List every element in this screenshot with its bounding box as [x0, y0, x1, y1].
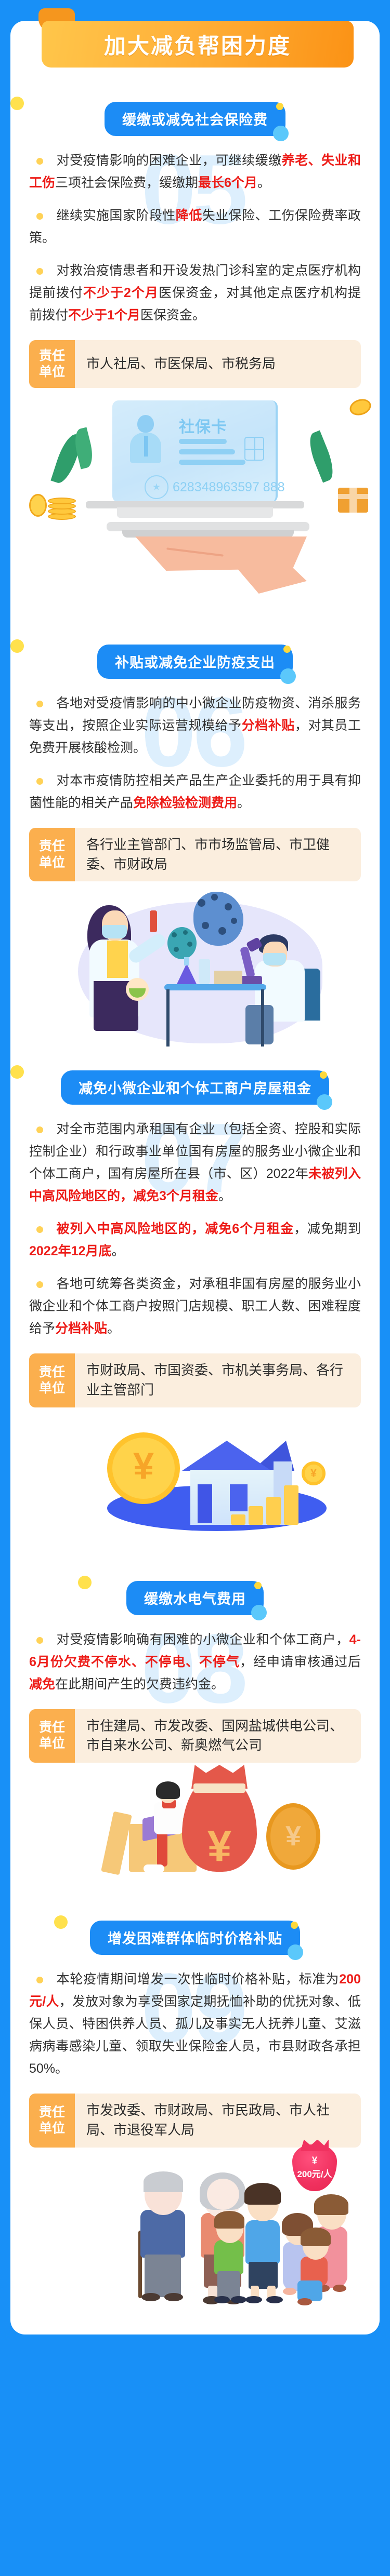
ssc-portrait-icon	[130, 415, 161, 463]
hand-with-tray-illustration	[10, 518, 380, 627]
test-tube-icon	[150, 910, 157, 932]
decor-dot-yellow-small-icon	[254, 1582, 262, 1589]
text-run: 在此期间产生的欠费违约金。	[55, 1677, 224, 1692]
house-door-icon	[198, 1484, 212, 1523]
page-bottom-spacer	[0, 2334, 390, 2352]
yuan-symbol-icon: ¥	[312, 2156, 318, 2166]
decor-dot-cyan-icon	[288, 1944, 303, 1960]
ssc-line-3	[179, 460, 245, 465]
responsible-unit-label-line1: 责任	[39, 348, 65, 364]
coin-stack-icon	[266, 1497, 281, 1525]
money-bag-illustration: ¥	[10, 1763, 380, 1903]
paragraph: 继续实施国家阶段性降低失业保险、工伤保险费率政策。	[29, 205, 361, 249]
content-card: 缓缴或减免社会保险费 05 对受疫情影响的困难企业，可继续缓缴养老、失业和工伤三…	[10, 21, 380, 2334]
person-leg	[157, 1831, 167, 1867]
conical-flask-neck	[184, 957, 189, 965]
face-mask-icon	[102, 925, 127, 938]
paragraph: 各地对受疫情影响的中小微企业防疫物资、消杀服务等支出，按照企业实际运营规模给予分…	[29, 692, 361, 759]
coin-stack-icon	[249, 1506, 263, 1525]
grandfather-trousers	[145, 2255, 181, 2297]
leaf-icon	[304, 431, 339, 483]
decor-dot-yellow-large-icon	[54, 1915, 68, 1929]
highlight-run: 不少于1个月	[68, 308, 140, 323]
section-body: 08 对受疫情影响确有困难的小微企业和个体工商户，4-6月份欠费不停水、不停电、…	[10, 1629, 380, 1696]
section-title-text: 补贴或减免企业防疫支出	[115, 655, 275, 670]
paragraph: 对本市疫情防控相关产品生产企业委托的用于具有抑菌性能的相关产品免除检验检测费用。	[29, 770, 361, 814]
coin-stack-icon	[48, 495, 79, 520]
child-periwinkle-shoe	[283, 2288, 296, 2295]
highlight-run: 2022年12月底	[29, 1244, 111, 1258]
text-run: 。	[111, 1244, 124, 1258]
responsible-unit-box: 责任 单位 市人社局、市医保局、市税务局	[29, 340, 361, 388]
section-title-pill[interactable]: 减免小微企业和个体工商户房屋租金	[61, 1070, 329, 1105]
child-green-shirt	[214, 2240, 243, 2274]
text-run: ，经申请审核通过后	[240, 1655, 361, 1669]
measuring-tube-icon	[199, 959, 210, 985]
text-run: 三项社会保险费，缓缴期	[55, 176, 198, 190]
responsible-unit-text: 各行业主管部门、市市场监管局、市卫健委、市财政局	[75, 828, 361, 881]
responsible-unit-text: 市发改委、市财政局、市民政局、市人社局、市退役军人局	[75, 2094, 361, 2147]
text-run: 对受疫情影响的困难企业，可继续缓缴	[57, 153, 282, 168]
ssc-card-shape: 社保卡 628348963597 888	[112, 400, 278, 502]
house-roof-icon	[182, 1441, 271, 1471]
highlight-run: 免除检验检测费用	[133, 796, 237, 810]
decor-dot-yellow-large-icon	[10, 639, 24, 653]
child-blue-shirt	[245, 2220, 280, 2264]
family-group-illustration: ¥ 200元/人	[10, 2148, 380, 2309]
infographic-page: 加大减负帮困力度 缓缴或减免社会保险费 05 对受疫情影响的困难企业，可继续缓缴…	[0, 0, 390, 2352]
decor-dot-cyan-icon	[273, 126, 289, 141]
ssc-chip-icon	[244, 437, 264, 461]
section-epidemic-expense-subsidy: 补贴或减免企业防疫支出 06 各地对受疫情影响的中小微企业防疫物资、消杀服务等支…	[10, 645, 380, 1053]
section-body: 06 各地对受疫情影响的中小微企业防疫物资、消杀服务等支出，按照企业实际运营规模…	[10, 692, 380, 814]
hand-icon	[135, 536, 307, 594]
face-mask-icon	[263, 953, 286, 965]
ssc-card-title: 社保卡	[179, 414, 227, 437]
section-utility-deferral: 缓缴水电气费用 08 对受疫情影响确有困难的小微企业和个体工商户，4-6月份欠费…	[10, 1581, 380, 1903]
responsible-unit-label: 责任 单位	[29, 2094, 75, 2147]
responsible-unit-label-line2: 单位	[39, 2121, 65, 2137]
responsible-unit-label-line2: 单位	[39, 364, 65, 380]
decor-dot-cyan-icon	[317, 1094, 332, 1110]
yuan-coin-icon	[266, 1803, 320, 1870]
coin-stack-icon	[231, 1514, 245, 1525]
grandfather-shoe	[141, 2293, 160, 2301]
child-pink-shoe	[333, 2285, 346, 2292]
section-heading-row: 缓缴或减免社会保险费	[10, 102, 380, 136]
section-heading-row: 增发困难群体临时价格补贴	[10, 1921, 380, 1955]
section-title-text: 增发困难群体临时价格补贴	[108, 1931, 282, 1947]
virus-icon	[167, 927, 197, 959]
responsible-unit-text: 市人社局、市医保局、市税务局	[75, 340, 361, 388]
responsible-unit-box: 责任 单位 市财政局、市国资委、市机关事务局、各行业主管部门	[29, 1353, 361, 1407]
child-red-shoe	[297, 2298, 312, 2305]
child-green-hair	[214, 2211, 244, 2229]
paragraph: 各地可统筹各类资金，对承租非国有房屋的服务业小微企业和个体工商户按照门店规模、职…	[29, 1273, 361, 1340]
child-green-shoe	[231, 2296, 246, 2303]
responsible-unit-box: 责任 单位 市发改委、市财政局、市民政局、市人社局、市退役军人局	[29, 2094, 361, 2147]
subsidy-amount-badge: ¥ 200元/人	[292, 2144, 337, 2191]
ssc-star-seal-icon	[145, 475, 168, 499]
responsible-unit-label-line2: 单位	[39, 1736, 65, 1752]
responsible-unit-label-line2: 单位	[39, 855, 65, 871]
section-heading-row: 缓缴水电气费用	[10, 1581, 380, 1615]
text-run: 。	[257, 176, 270, 190]
ssc-line-1	[179, 439, 227, 444]
laboratory-illustration	[10, 881, 380, 1053]
decor-dot-cyan-icon	[280, 668, 296, 684]
lab-table-top	[164, 984, 266, 990]
child-green-shoe	[214, 2296, 230, 2303]
child-blue-shoe	[266, 2296, 283, 2303]
section-body: 05 对受疫情影响的困难企业，可继续缓缴养老、失业和工伤三项社会保险费，缓缴期最…	[10, 150, 380, 327]
highlight-run: 降低	[176, 208, 202, 223]
coin-stack-icon	[101, 1812, 132, 1875]
responsible-unit-label: 责任 单位	[29, 1353, 75, 1407]
section-title-pill[interactable]: 补贴或减免企业防疫支出	[97, 645, 293, 679]
section-body: 09 本轮疫情期间增发一次性临时价格补贴，标准为200元/人，发放对象为享受国家…	[10, 1968, 380, 2080]
highlight-run: 分档补贴	[242, 718, 295, 733]
bottom-spacer	[10, 2309, 380, 2322]
grandmother-face-front	[207, 2179, 239, 2210]
section-title-text: 缓缴或减免社会保险费	[122, 112, 268, 128]
grandfather-shirt	[140, 2210, 185, 2258]
paragraph: 对全市范围内承租国有企业（包括全资、控股和实际控制企业）和行政事业单位国有房屋的…	[29, 1118, 361, 1208]
paragraph: 对受疫情影响的困难企业，可继续缓缴养老、失业和工伤三项社会保险费，缓缴期最长6个…	[29, 150, 361, 194]
text-run: 医保资金。	[140, 308, 205, 323]
responsible-unit-box: 责任 单位 各行业主管部门、市市场监管局、市卫健委、市财政局	[29, 828, 361, 881]
section-social-insurance: 缓缴或减免社会保险费 05 对受疫情影响的困难企业，可继续缓缴养老、失业和工伤三…	[10, 102, 380, 627]
decor-dot-yellow-large-icon	[10, 97, 24, 110]
text-run: 继续实施国家阶段性	[57, 208, 176, 223]
decor-dot-yellow-small-icon	[291, 1922, 298, 1929]
person-hair	[156, 1781, 180, 1799]
responsible-unit-label-line2: 单位	[39, 1380, 65, 1397]
paragraph: 被列入中高风险地区的，减免6个月租金，减免期到2022年12月底。	[29, 1218, 361, 1263]
section-heading-row: 补贴或减免企业防疫支出	[10, 645, 380, 679]
decor-dot-yellow-small-icon	[320, 1071, 327, 1079]
male-researcher-leg	[245, 1005, 274, 1044]
lab-table-leg	[261, 989, 264, 1046]
text-run: ，发放对象为享受国家定期抚恤补助的优抚对象、低保人员、特困供养人员、孤儿及事实无…	[29, 1994, 361, 2076]
section-rent-reduction: 减免小微企业和个体工商户房屋租金 07 对全市范围内承租国有企业（包括全资、控股…	[10, 1070, 380, 1563]
grandfather-shoe	[164, 2293, 183, 2301]
child-pink-hair	[314, 2194, 348, 2215]
section-price-subsidy: 增发困难群体临时价格补贴 09 本轮疫情期间增发一次性临时价格补贴，标准为200…	[10, 1921, 380, 2308]
responsible-unit-label: 责任 单位	[29, 340, 75, 388]
decor-dot-yellow-large-icon	[10, 1065, 24, 1079]
section-title-pill[interactable]: 增发困难群体临时价格补贴	[90, 1921, 300, 1955]
house-window-icon	[230, 1484, 248, 1511]
responsible-unit-label-line1: 责任	[39, 838, 65, 854]
text-run: 。	[218, 1189, 231, 1203]
section-title-text: 减免小微企业和个体工商户房屋租金	[79, 1081, 311, 1096]
section-title-pill[interactable]: 缓缴或减免社会保险费	[105, 102, 285, 136]
yuan-symbol-icon: ¥	[207, 1821, 232, 1871]
responsible-unit-label-line1: 责任	[39, 2104, 65, 2121]
child-red-trousers	[297, 2280, 322, 2301]
tray-shadow	[122, 530, 294, 538]
responsible-unit-label: 责任 单位	[29, 1709, 75, 1763]
child-blue-shorts	[249, 2262, 278, 2289]
highlight-run: 分档补贴	[55, 1321, 107, 1336]
highlight-run: 最长6个月	[198, 176, 257, 190]
child-blue-shoe	[245, 2296, 262, 2303]
coin-stack-icon	[284, 1485, 298, 1525]
responsible-unit-label-line1: 责任	[39, 1364, 65, 1380]
text-run: 。	[107, 1321, 120, 1336]
person-shoe	[144, 1864, 164, 1873]
paragraph: 对救治疫情患者和开设发热门诊科室的定点医疗机构提前拨付不少于2个月医保资金，对其…	[29, 260, 361, 327]
highlight-run: 减免	[29, 1677, 55, 1692]
page-title: 加大减负帮困力度	[104, 29, 291, 60]
decor-dot-yellow-small-icon	[283, 646, 291, 653]
text-run: 本轮疫情期间增发一次性临时价格补贴，标准为	[57, 1972, 340, 1987]
decor-dot-yellow-small-icon	[276, 103, 283, 110]
responsible-unit-label-line1: 责任	[39, 1720, 65, 1736]
yuan-coin-small-icon	[302, 1461, 326, 1485]
ssc-stand	[117, 507, 273, 518]
virus-icon	[193, 892, 243, 946]
decor-dot-yellow-large-icon	[78, 1576, 92, 1589]
section-body: 07 对全市范围内承租国有企业（包括全资、控股和实际控制企业）和行政事业单位国有…	[10, 1118, 380, 1340]
gift-box-icon	[338, 488, 368, 513]
yuan-coin-large-icon	[107, 1432, 180, 1504]
text-run: 。	[237, 796, 250, 810]
lab-table-leg	[166, 989, 170, 1046]
section-title-text: 缓缴水电气费用	[144, 1591, 246, 1607]
section-heading-row: 减免小微企业和个体工商户房屋租金	[10, 1070, 380, 1105]
responsible-unit-text: 市财政局、市国资委、市机关事务局、各行业主管部门	[75, 1353, 361, 1407]
female-researcher-shirt	[107, 941, 128, 978]
text-run: 对受疫情影响确有困难的小微企业和个体工商户，	[57, 1632, 349, 1647]
header-banner-wrap: 加大减负帮困力度	[0, 8, 390, 70]
social-security-card-illustration: 社保卡 628348963597 888	[10, 388, 380, 518]
paragraph: 对受疫情影响确有困难的小微企业和个体工商户，4-6月份欠费不停水、不停电、不停气…	[29, 1629, 361, 1696]
highlight-run: 不少于2个月	[83, 286, 159, 300]
coin-icon	[29, 494, 47, 517]
conical-flask-icon	[176, 963, 198, 986]
house-coins-illustration	[10, 1407, 380, 1563]
highlight-run: 被列入中高风险地区的，减免6个月租金	[57, 1222, 294, 1236]
specimen-box-icon	[214, 971, 242, 985]
responsible-unit-label: 责任 单位	[29, 828, 75, 881]
money-bag-tie	[193, 1783, 245, 1793]
decor-dot-cyan-icon	[251, 1605, 267, 1620]
coin-icon	[347, 396, 373, 418]
ssc-card-number: 628348963597 888	[173, 480, 285, 495]
child-blue-hair	[244, 2183, 281, 2205]
child-red-hair	[301, 2228, 331, 2246]
subsidy-amount-text: 200元/人	[297, 2167, 332, 2180]
header-banner: 加大减负帮困力度	[42, 21, 354, 68]
grandfather-hair	[144, 2171, 183, 2192]
text-run: ，减免期到	[294, 1222, 361, 1236]
paragraph: 本轮疫情期间增发一次性临时价格补贴，标准为200元/人，发放对象为享受国家定期抚…	[29, 1968, 361, 2080]
section-title-pill[interactable]: 缓缴水电气费用	[126, 1581, 264, 1615]
ssc-line-2	[179, 449, 235, 454]
